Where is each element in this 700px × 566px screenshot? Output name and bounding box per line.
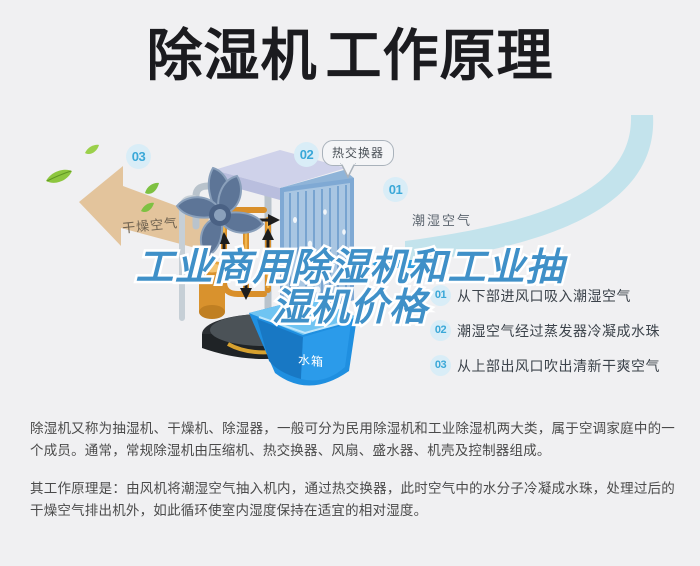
humid-air-label: 潮湿空气 <box>412 210 472 229</box>
step-text: 潮湿空气经过蒸发器冷凝成水珠 <box>457 321 660 341</box>
fan-icon <box>165 160 275 270</box>
badge-dry-air: 03 <box>126 144 151 169</box>
step-list: 01 从下部进风口吸入潮湿空气 02 潮湿空气经过蒸发器冷凝成水珠 03 从上部… <box>430 285 695 390</box>
step-badge: 03 <box>430 355 451 376</box>
badge-heat-exchanger: 02 <box>294 142 319 167</box>
page-title-part-1: 除湿机 <box>147 24 318 87</box>
list-item: 02 潮湿空气经过蒸发器冷凝成水珠 <box>430 320 695 341</box>
humid-air-band <box>405 115 675 280</box>
step-text: 从上部出风口吹出清新干爽空气 <box>457 356 660 376</box>
list-item: 01 从下部进风口吸入潮湿空气 <box>430 285 695 306</box>
paragraph-2: 其工作原理是：由风机将潮湿空气抽入机内，通过热交换器，此时空气中的水分子冷凝成水… <box>30 478 675 522</box>
water-tank <box>245 295 375 400</box>
leaf-icon <box>44 168 74 186</box>
leaf-icon <box>143 182 160 196</box>
leaf-icon <box>84 144 100 156</box>
working-principle-diagram: 干燥空气 03 <box>0 120 700 405</box>
step-badge: 02 <box>430 320 451 341</box>
heat-exchanger-callout: 热交换器 <box>322 140 394 166</box>
step-badge: 01 <box>430 285 451 306</box>
callout-tail-icon <box>340 163 356 179</box>
poster-root: 除湿机工作原理 干燥空气 03 <box>0 0 700 566</box>
list-item: 03 从上部出风口吹出清新干爽空气 <box>430 355 695 376</box>
body-copy: 除湿机又称为抽湿机、干燥机、除湿器，一般可分为民用除湿机和工业除湿机两大类，属于… <box>30 418 675 538</box>
page-title: 除湿机工作原理 <box>0 28 700 84</box>
page-title-text: 除湿机工作原理 <box>147 28 554 84</box>
step-text: 从下部进风口吸入潮湿空气 <box>457 286 631 306</box>
page-title-part-2: 工作原理 <box>326 24 554 87</box>
water-tank-label: 水箱 <box>298 351 324 371</box>
paragraph-1: 除湿机又称为抽湿机、干燥机、除湿器，一般可分为民用除湿机和工业除湿机两大类，属于… <box>30 418 675 462</box>
leaf-icon <box>140 202 155 214</box>
